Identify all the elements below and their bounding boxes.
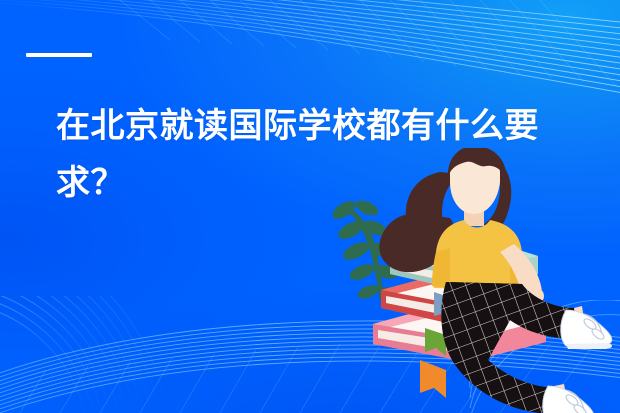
title-rule xyxy=(26,53,92,57)
illustration-woman-sitting-on-books xyxy=(318,148,620,413)
bookmark-orange-icon xyxy=(420,360,446,398)
sneaker-lower xyxy=(543,386,594,413)
sneaker-upper xyxy=(561,310,612,349)
poster-canvas: 在北京就读国际学校都有什么要求？ xyxy=(0,0,620,413)
